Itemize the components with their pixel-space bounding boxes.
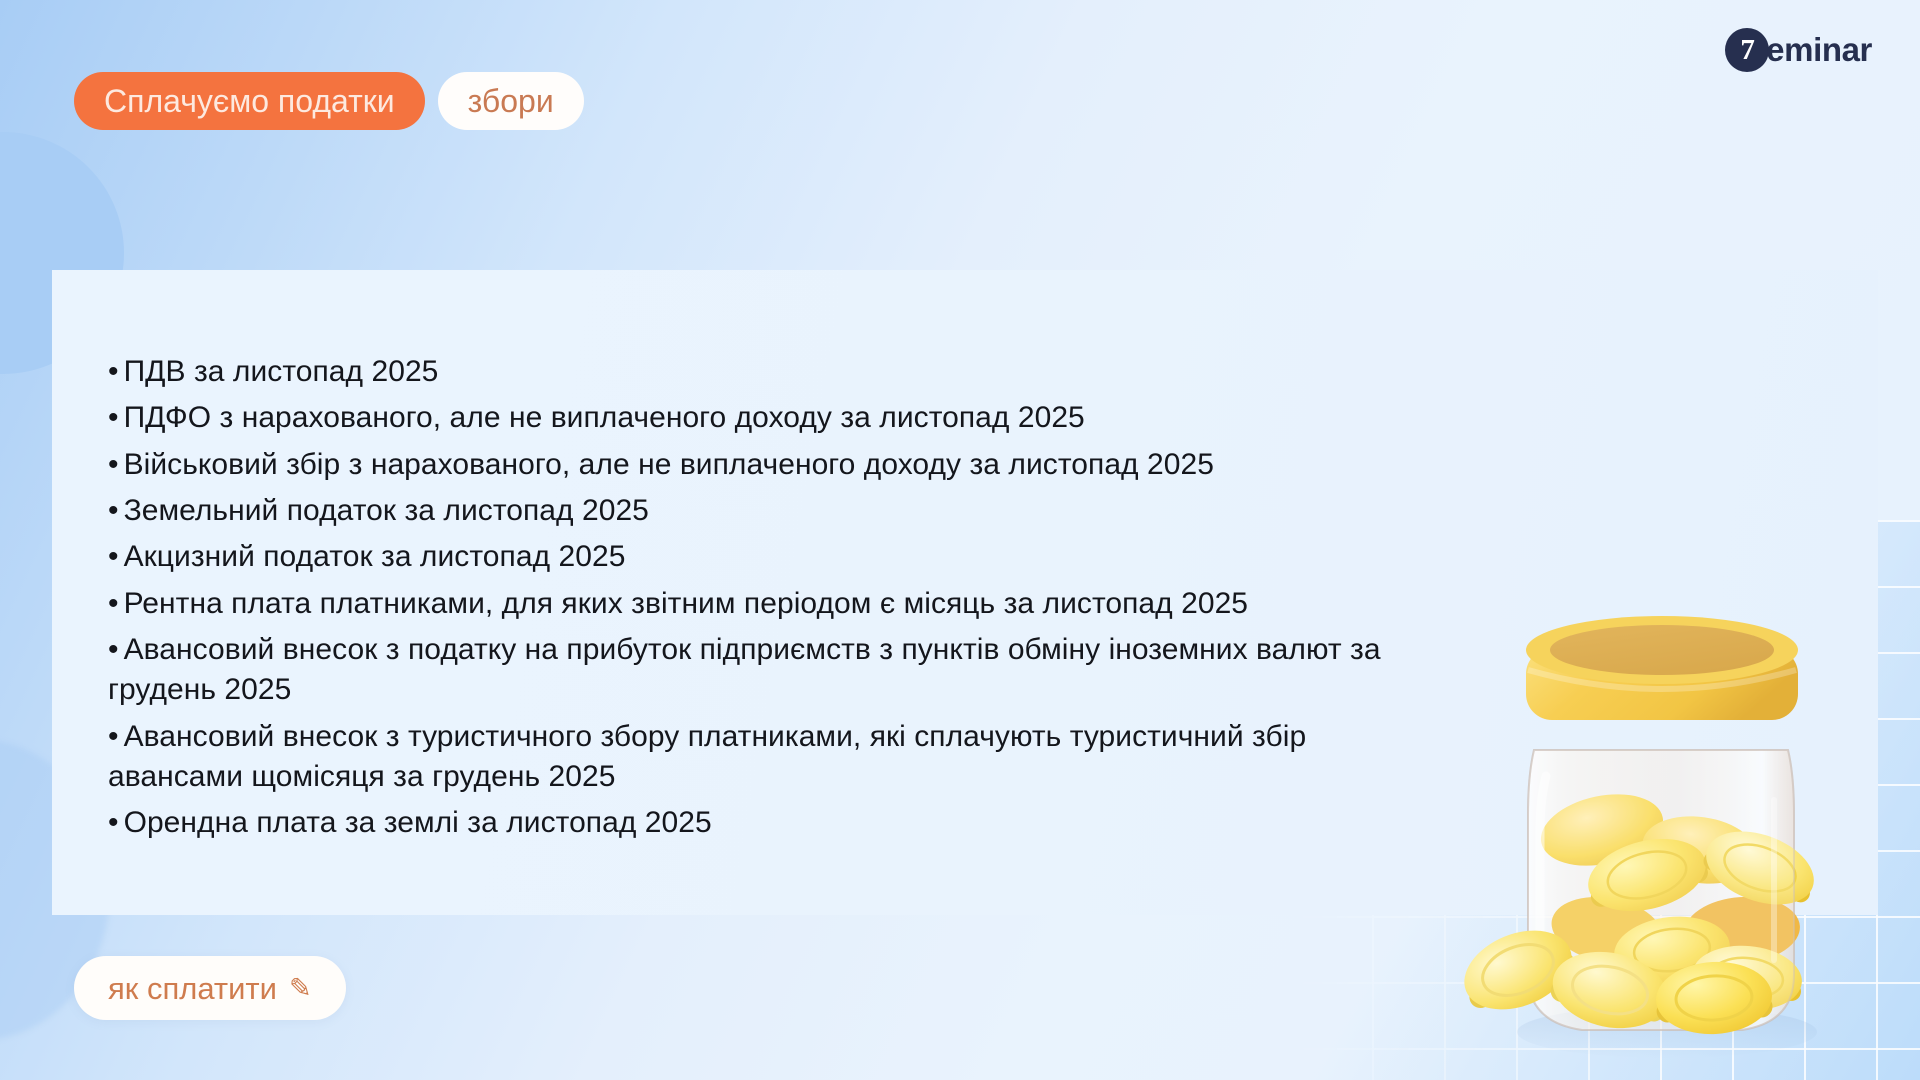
bullet-icon: • (108, 448, 119, 481)
pill-fees[interactable]: збори (438, 72, 584, 130)
list-item: •Орендна плата за землі за листопад 2025 (108, 803, 1428, 843)
list-item-label: Земельний податок за листопад 2025 (124, 494, 649, 527)
bullet-icon: • (108, 355, 119, 388)
jar-of-coins-illustration (1442, 600, 1872, 1070)
list-item: •Земельний податок за листопад 2025 (108, 491, 1428, 531)
list-item: •Акцизний податок за листопад 2025 (108, 537, 1428, 577)
list-item-label: Військовий збір з нарахованого, але не в… (124, 448, 1214, 481)
list-item-label: Акцизний податок за листопад 2025 (124, 540, 626, 573)
list-item-label: ПДФО з нарахованого, але не виплаченого … (124, 401, 1085, 434)
list-item: •Рентна плата платниками, для яких звітн… (108, 584, 1428, 624)
how-to-pay-button[interactable]: як сплатити ✎ (74, 956, 346, 1020)
list-item: •Авансовий внесок з податку на прибуток … (108, 630, 1428, 711)
list-item: •Авансовий внесок з туристичного збору п… (108, 717, 1428, 798)
list-item: •ПДВ за листопад 2025 (108, 352, 1428, 392)
list-item-label: Орендна плата за землі за листопад 2025 (124, 806, 712, 839)
list-item: •ПДФО з нарахованого, але не виплаченого… (108, 398, 1428, 438)
bullet-icon: • (108, 401, 119, 434)
how-to-pay-label: як сплатити (108, 973, 277, 1004)
header-pill-row: Сплачуємо податки збори (74, 72, 584, 130)
bullet-icon: • (108, 540, 119, 573)
bullet-icon: • (108, 806, 119, 839)
bullet-icon: • (108, 720, 119, 753)
list-item-label: Рентна плата платниками, для яких звітни… (124, 587, 1248, 620)
jar-svg (1442, 600, 1872, 1070)
slide-root: Сплачуємо податки збори 7 eminar •ПДВ за… (0, 0, 1920, 1080)
logo-wordmark: eminar (1766, 31, 1872, 69)
list-item-label: Авансовий внесок з туристичного збору пл… (108, 720, 1306, 793)
bullet-icon: • (108, 633, 119, 666)
list-item: •Військовий збір з нарахованого, але не … (108, 445, 1428, 485)
tax-deadline-list: •ПДВ за листопад 2025•ПДФО з нарахованог… (108, 352, 1428, 850)
list-item-label: ПДВ за листопад 2025 (124, 355, 439, 388)
bullet-icon: • (108, 587, 119, 620)
pencil-icon: ✎ (289, 975, 312, 1002)
logo-seven-icon: 7 (1725, 28, 1769, 72)
list-item-label: Авансовий внесок з податку на прибуток п… (108, 633, 1381, 706)
brand-logo[interactable]: 7 eminar (1725, 28, 1872, 72)
bullet-icon: • (108, 494, 119, 527)
pill-taxes[interactable]: Сплачуємо податки (74, 72, 425, 130)
